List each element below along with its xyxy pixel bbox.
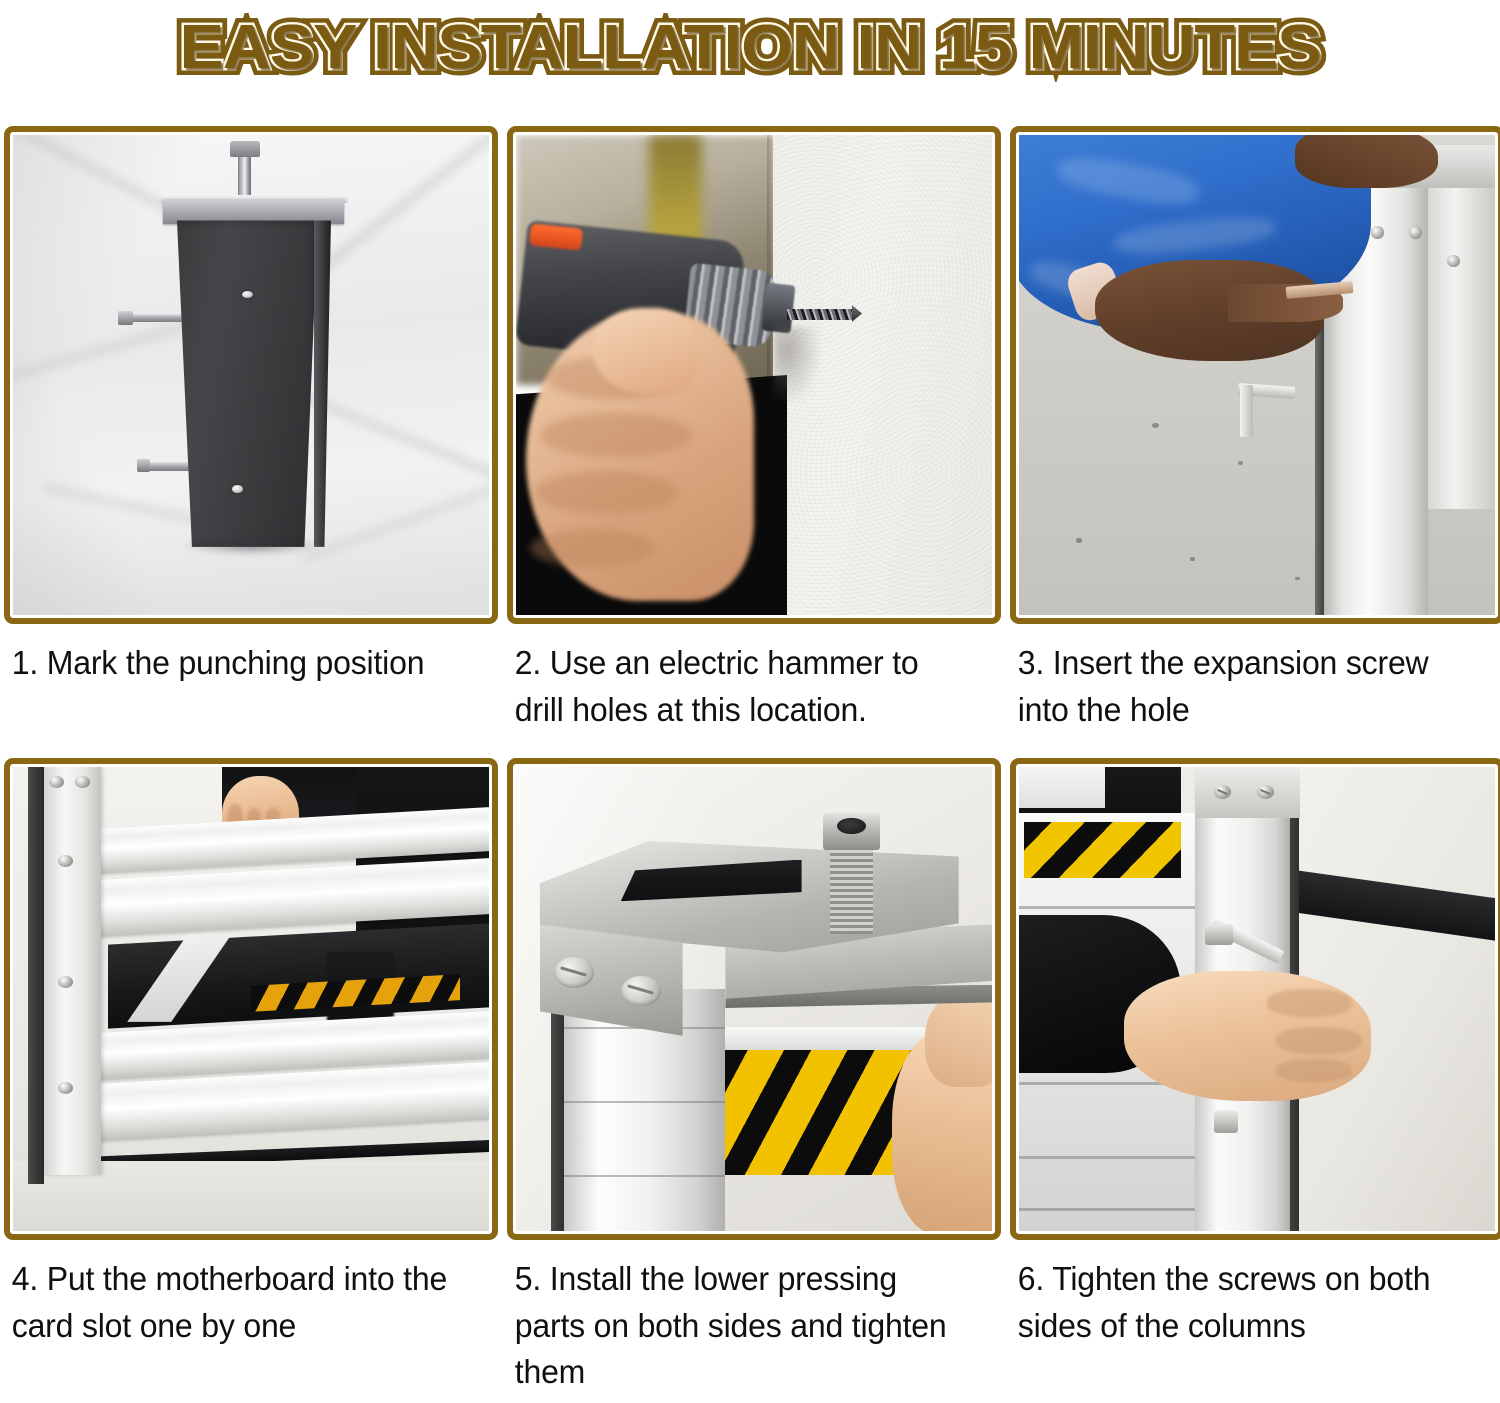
step-1-photo-frame (4, 126, 498, 624)
step-card-3: 3. Insert the expansion screw into the h… (1010, 126, 1500, 734)
step-6-photo-frame (1010, 758, 1500, 1240)
step-3-caption: 3. Insert the expansion screw into the h… (1010, 640, 1489, 734)
step-card-6: 6. Tighten the screws on both sides of t… (1010, 758, 1500, 1397)
step-card-4: 4. Put the motherboard into the card slo… (4, 758, 498, 1397)
step-4-caption: 4. Put the motherboard into the card slo… (4, 1256, 483, 1350)
step-card-1: 1. Mark the punching position (4, 126, 498, 734)
title-banner: EASY INSTALLATION IN 15 MINUTES (0, 0, 1500, 96)
step-5-photo-frame (507, 758, 1001, 1240)
step-4-photo-frame (4, 758, 498, 1240)
step-card-5: 5. Install the lower pressing parts on b… (507, 758, 1001, 1397)
step-1-caption: 1. Mark the punching position (4, 640, 483, 687)
step-3-photo-frame (1010, 126, 1500, 624)
mark-punching-position-photo (13, 135, 489, 615)
page-title: EASY INSTALLATION IN 15 MINUTES (179, 17, 1320, 79)
steps-row-top: 1. Mark the punching position (0, 126, 1500, 734)
tighten-column-screws-photo (1019, 767, 1495, 1231)
motherboard-into-card-slot-photo (13, 767, 489, 1231)
step-2-caption: 2. Use an electric hammer to drill holes… (507, 640, 986, 734)
step-2-photo-frame (507, 126, 1001, 624)
step-6-caption: 6. Tighten the screws on both sides of t… (1010, 1256, 1489, 1350)
electric-hammer-drilling-photo (516, 135, 992, 615)
install-lower-pressing-parts-photo (516, 767, 992, 1231)
insert-expansion-screw-photo (1019, 135, 1495, 615)
step-card-2: 2. Use an electric hammer to drill holes… (507, 126, 1001, 734)
step-5-caption: 5. Install the lower pressing parts on b… (507, 1256, 986, 1397)
steps-row-bottom: 4. Put the motherboard into the card slo… (0, 758, 1500, 1397)
